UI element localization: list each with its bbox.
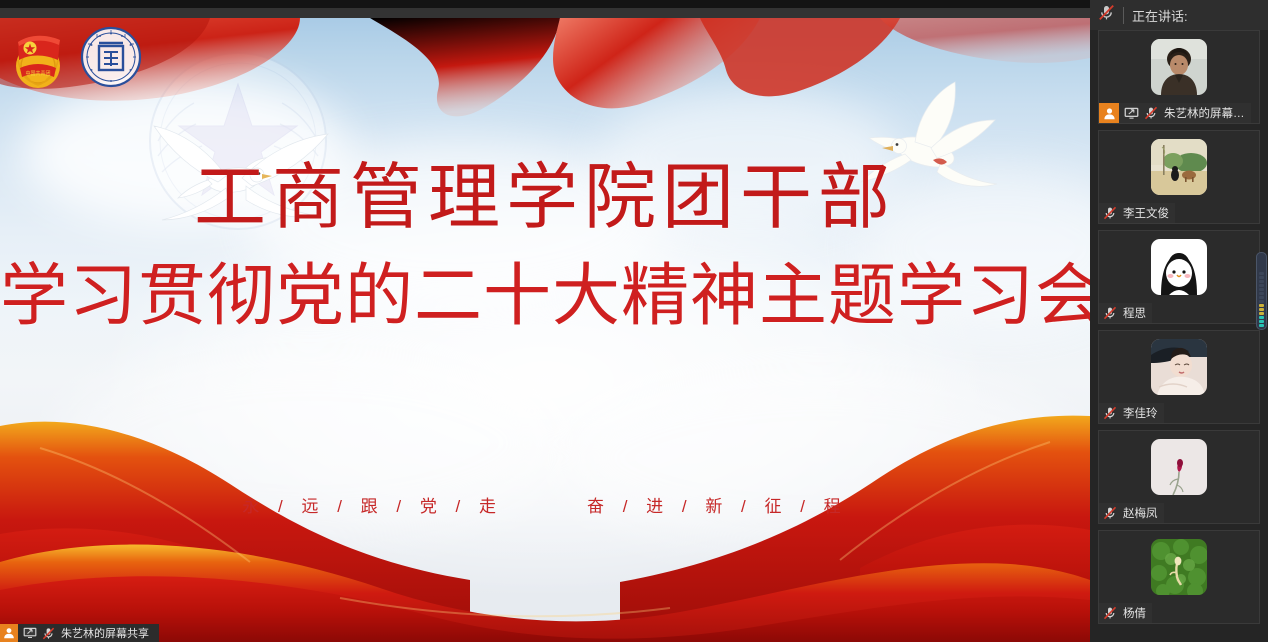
window-toolbar-band [0,8,1090,18]
mic-muted-icon [1144,106,1158,120]
meeting-window: 中国共青团 [0,0,1268,642]
participant-card[interactable]: 程思 [1098,230,1260,324]
slide-logos: 中国共青团 [6,24,142,90]
participant-badges: 杨倩 [1099,603,1152,623]
speaking-status-header: 正在讲话: [1090,0,1268,30]
audio-level-segment [1259,304,1264,307]
avatar [1151,439,1207,495]
red-silk-waves-decor [0,412,1090,642]
audio-level-segment [1259,292,1264,295]
slide-title-line2: 学习贯彻党的二十大精神主题学习会 [0,254,1090,338]
slide-title-line1: 工商管理学院团干部 [0,154,1090,242]
participant-badges: 李佳玲 [1099,403,1164,423]
participant-name: 李王文俊 [1123,205,1169,221]
slide-title-block: 工商管理学院团干部 学习贯彻党的二十大精神主题学习会 [0,154,1090,338]
window-top-band [0,0,1090,8]
mic-muted-icon [1103,206,1117,220]
avatar [1151,239,1207,295]
communist-youth-league-emblem-icon: 中国共青团 [6,24,70,90]
shared-screen-stage[interactable]: 中国共青团 [0,18,1090,642]
participant-badges: 赵梅凤 [1099,503,1164,523]
participants-sidebar[interactable]: 正在讲话: [1090,0,1268,642]
participant-badges: 朱艺林的屏幕… [1099,103,1251,123]
audio-level-segment [1259,308,1264,311]
slogan-right: 奋 / 进 / 新 / 征 / 程 [587,492,848,517]
avatar [1151,39,1207,95]
audio-level-segment [1259,324,1264,327]
mic-muted-icon [1103,406,1117,420]
participant-card[interactable]: 朱艺林的屏幕… [1098,30,1260,124]
mic-muted-icon [1098,4,1115,26]
avatar [1151,139,1207,195]
header-divider [1123,7,1124,24]
speaking-label: 正在讲话: [1132,6,1188,25]
participant-name: 杨倩 [1123,605,1146,621]
screen-share-icon [23,627,37,639]
audio-level-segment [1259,280,1264,283]
avatar [1151,539,1207,595]
avatar [1151,339,1207,395]
screen-share-status-bar: 朱艺林的屏幕共享 [0,624,159,642]
mic-muted-icon [42,627,55,640]
mic-muted-icon [1103,606,1117,620]
audio-level-segment [1259,272,1264,275]
screen-share-icon [1124,107,1139,120]
participant-card[interactable]: 李王文俊 [1098,130,1260,224]
participant-name: 赵梅凤 [1123,505,1158,521]
participant-card[interactable]: 杨倩 [1098,530,1260,624]
person-icon [0,624,18,642]
participant-badges: 李王文俊 [1099,203,1175,223]
participant-card[interactable]: 赵梅凤 [1098,430,1260,524]
audio-level-segment [1259,296,1264,299]
audio-level-segment [1259,284,1264,287]
audio-level-segment [1259,288,1264,291]
svg-text:中国共青团: 中国共青团 [25,70,50,77]
participant-card[interactable]: 李佳玲 [1098,330,1260,424]
participant-name: 李佳玲 [1123,405,1158,421]
participant-name: 程思 [1123,305,1146,321]
slide-slogans: 永 / 远 / 跟 / 党 / 走 奋 / 进 / 新 / 征 / 程 [0,492,1090,517]
audio-level-meter[interactable] [1256,252,1267,330]
person-icon [1099,103,1119,123]
audio-level-segment [1259,320,1264,323]
participant-name: 朱艺林的屏幕… [1164,105,1245,121]
audio-level-segment [1259,312,1264,315]
participant-badges: 程思 [1099,303,1152,323]
mic-muted-icon [1103,306,1117,320]
university-seal-emblem-icon [80,26,142,88]
presentation-slide: 中国共青团 [0,18,1090,642]
audio-level-segment [1259,300,1264,303]
screen-share-owner-label: 朱艺林的屏幕共享 [61,625,149,641]
slogan-left: 永 / 远 / 跟 / 党 / 走 [242,492,503,517]
participant-list[interactable]: 朱艺林的屏幕… [1090,30,1268,624]
audio-level-segment [1259,316,1264,319]
audio-level-segment [1259,276,1264,279]
mic-muted-icon [1103,506,1117,520]
